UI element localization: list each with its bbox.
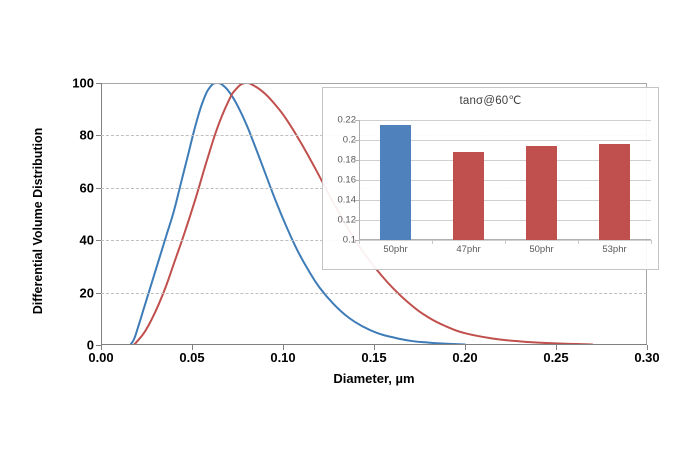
inset-gridline [359, 120, 651, 121]
inset-x-tick-labels: 50phr47phr50phr53phr [359, 244, 651, 258]
main-y-tick-label: 80 [80, 128, 94, 143]
inset-bar [599, 144, 630, 240]
main-gridline [101, 293, 647, 294]
main-y-axis-title: Differential Volume Distribution [31, 101, 45, 341]
main-x-tick-label: 0.00 [88, 350, 113, 365]
inset-bar-chart: tanσ@60℃ 0.10.120.140.160.180.20.22 50ph… [322, 87, 659, 270]
inset-x-tick-label: 50phr [529, 244, 553, 255]
inset-x-tick-label: 50phr [383, 244, 407, 255]
inset-y-axis-line [359, 120, 360, 240]
main-y-tick-label: 100 [72, 76, 94, 91]
main-y-tick-label: 60 [80, 180, 94, 195]
main-x-tick-label: 0.05 [179, 350, 204, 365]
main-y-axis-line [101, 83, 102, 345]
figure-canvas: Differential Volume Distribution 0204060… [0, 0, 700, 461]
main-y-tick-label: 40 [80, 233, 94, 248]
main-x-tick-label: 0.15 [361, 350, 386, 365]
main-plot-top-border [101, 83, 647, 84]
inset-chart-title: tanσ@60℃ [323, 93, 658, 107]
inset-y-tick-mark [355, 140, 359, 141]
main-y-tick-label: 20 [80, 285, 94, 300]
inset-y-tick-label: 0.18 [338, 155, 357, 166]
inset-x-tick-label: 47phr [456, 244, 480, 255]
inset-y-tick-mark [355, 160, 359, 161]
inset-bar [453, 152, 484, 240]
inset-y-tick-mark [355, 220, 359, 221]
main-x-axis-title: Diameter, µm [101, 371, 647, 386]
main-x-tick-label: 0.30 [634, 350, 659, 365]
inset-y-tick-label: 0.14 [338, 195, 357, 206]
main-x-tick-labels: 0.000.050.100.150.200.250.30 [101, 350, 647, 370]
inset-y-tick-mark [355, 120, 359, 121]
main-y-tick-mark [96, 240, 101, 241]
main-x-tick-label: 0.20 [452, 350, 477, 365]
main-y-tick-mark [96, 83, 101, 84]
main-y-tick-labels: 020406080100 [50, 83, 94, 345]
inset-x-tick-mark [651, 240, 652, 244]
main-x-tick-label: 0.25 [543, 350, 568, 365]
inset-y-tick-label: 0.22 [338, 115, 357, 126]
main-y-tick-mark [96, 188, 101, 189]
main-x-tick-label: 0.10 [270, 350, 295, 365]
inset-plot-area [359, 120, 651, 240]
main-y-tick-mark [96, 135, 101, 136]
inset-bar [380, 125, 411, 240]
inset-y-tick-label: 0.12 [338, 215, 357, 226]
main-y-tick-mark [96, 293, 101, 294]
inset-y-tick-mark [355, 180, 359, 181]
inset-y-tick-mark [355, 200, 359, 201]
inset-bar [526, 146, 557, 240]
inset-y-tick-labels: 0.10.120.140.160.180.20.22 [323, 120, 356, 240]
inset-y-tick-label: 0.16 [338, 175, 357, 186]
inset-x-tick-label: 53phr [602, 244, 626, 255]
